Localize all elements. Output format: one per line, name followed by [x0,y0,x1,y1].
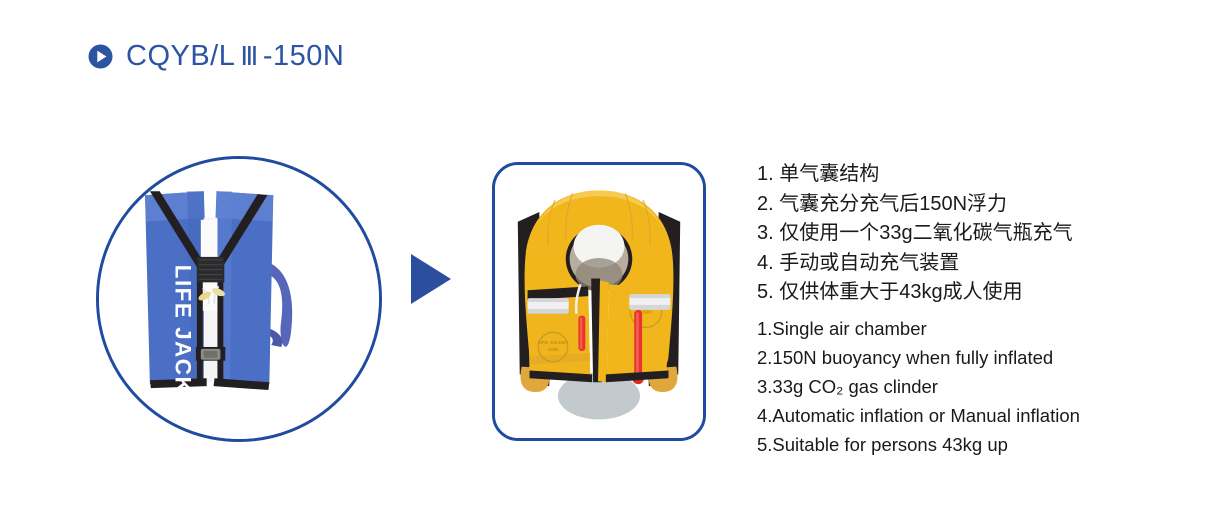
list-item: 2. 气囊充分充气后150N浮力 [757,190,1197,220]
title-suffix: -150N [263,40,345,72]
uninflated-jacket-frame: LIFE JACKET [96,156,382,442]
inflated-jacket-frame: LIFE JACKET 150N 150N [492,162,706,441]
list-item: 5. 仅供体重大于43kg成人使用 [757,278,1197,308]
uninflated-jacket-photo: LIFE JACKET [99,159,379,439]
specs-english-list: 1.Single air chamber 2.150N buoyancy whe… [757,314,1197,459]
play-circle-icon [88,44,113,69]
list-item: 4.Automatic inflation or Manual inflatio… [757,401,1197,430]
svg-text:150N: 150N [548,347,559,352]
arrow-right-icon [408,252,454,306]
page-title: CQYB/LⅢ-150N [126,42,344,71]
svg-text:LIFE JACKET: LIFE JACKET [170,265,195,426]
list-item: 1.Single air chamber [757,314,1197,343]
list-item: 3.33g CO₂ gas clinder [757,372,1197,401]
list-item: 1. 单气囊结构 [757,160,1197,190]
title-roman-numeral: Ⅲ [235,41,262,71]
product-title-row: CQYB/LⅢ-150N [88,42,344,71]
specs-chinese-list: 1. 单气囊结构 2. 气囊充分充气后150N浮力 3. 仅使用一个33g二氧化… [757,160,1197,308]
title-prefix: CQYB/L [126,40,235,72]
specifications: 1. 单气囊结构 2. 气囊充分充气后150N浮力 3. 仅使用一个33g二氧化… [757,160,1197,459]
list-item: 5.Suitable for persons 43kg up [757,430,1197,459]
list-item: 2.150N buoyancy when fully inflated [757,343,1197,372]
list-item: 3. 仅使用一个33g二氧化碳气瓶充气 [757,219,1197,249]
inflated-jacket-photo: LIFE JACKET 150N 150N [495,165,703,438]
product-spec-page: CQYB/LⅢ-150N [0,0,1213,507]
list-item: 4. 手动或自动充气装置 [757,249,1197,279]
svg-text:LIFE JACKET: LIFE JACKET [538,340,568,346]
